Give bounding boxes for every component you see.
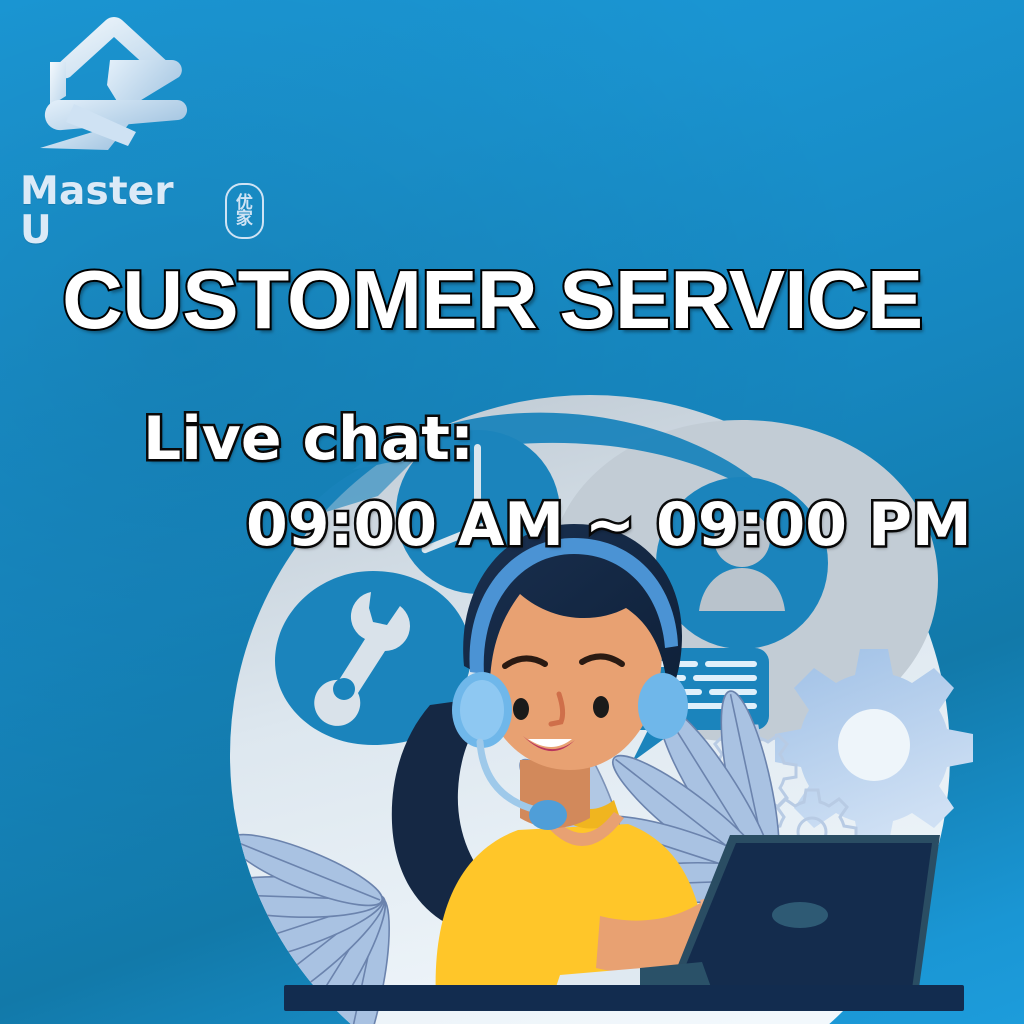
gear-icon-large bbox=[775, 649, 973, 847]
brand-badge: 优 家 bbox=[225, 183, 264, 239]
customer-service-banner: Master U 优 家 CUSTOMER SERVICE Live chat:… bbox=[0, 0, 1024, 1024]
brand-name: Master U bbox=[20, 172, 216, 250]
brand-logo[interactable]: Master U 优 家 bbox=[14, 14, 264, 226]
page-title: CUSTOMER SERVICE bbox=[62, 252, 922, 348]
badge-char-bottom: 家 bbox=[236, 211, 253, 227]
live-chat-label: Live chat: bbox=[143, 404, 474, 474]
house-lightning-logo-icon bbox=[14, 14, 238, 174]
desk-surface bbox=[284, 985, 964, 1011]
live-chat-hours: 09:00 AM ~ 09:00 PM bbox=[246, 490, 972, 560]
